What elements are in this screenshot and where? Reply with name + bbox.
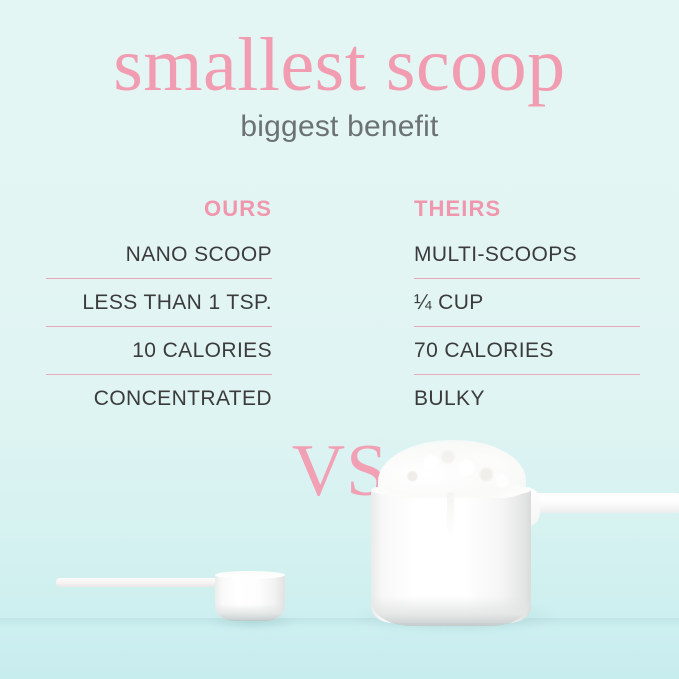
large-scoop-cup-base xyxy=(371,596,531,626)
promo-graphic: smallest scoop biggest benefit OURS NANO… xyxy=(0,0,679,679)
small-scoop-rim xyxy=(215,571,285,579)
small-scoop-handle xyxy=(56,578,222,587)
small-scoop-cup-base xyxy=(215,604,285,621)
powder-spill xyxy=(447,492,454,538)
scoop-photo-scene xyxy=(0,0,679,679)
surface-horizon xyxy=(0,618,679,628)
